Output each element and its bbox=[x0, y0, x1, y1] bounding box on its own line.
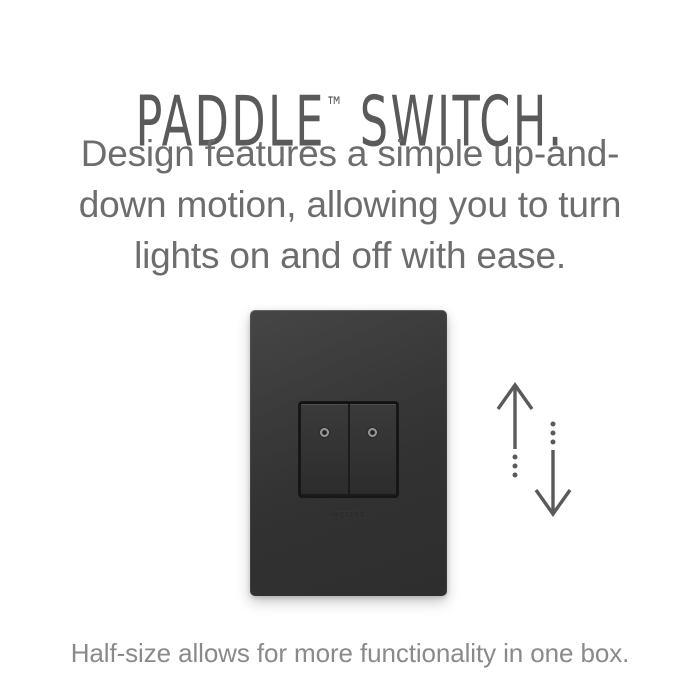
footer-caption: Half-size allows for more functionality … bbox=[0, 637, 700, 669]
product-feature-panel: PADDLE™ SWITCH. Design features a simple… bbox=[0, 0, 700, 700]
right-paddle-switch[interactable] bbox=[350, 404, 397, 495]
feature-description-line-2: down motion, allowing you to turn bbox=[50, 179, 650, 230]
updown-motion-graphic bbox=[485, 372, 585, 527]
down-arrow-icon bbox=[536, 450, 570, 514]
paddle-rocker-group[interactable] bbox=[299, 402, 398, 497]
left-paddle-switch[interactable] bbox=[301, 404, 348, 495]
led-indicator-icon bbox=[368, 428, 377, 437]
wall-plate-body: legrand bbox=[250, 310, 447, 596]
led-indicator-icon bbox=[320, 428, 329, 437]
feature-description: Design features a simple up-and- down mo… bbox=[50, 128, 650, 281]
brand-wordmark: legrand bbox=[331, 510, 366, 517]
up-arrow-icon bbox=[498, 385, 532, 449]
product-image-switch-plate: legrand bbox=[250, 310, 447, 596]
trademark-symbol: ™ bbox=[326, 91, 343, 122]
feature-description-line-3: lights on and off with ease. bbox=[50, 230, 650, 281]
feature-description-line-1: Design features a simple up-and- bbox=[50, 128, 650, 179]
up-arrow-dotted-tail bbox=[513, 455, 518, 478]
down-arrow-dotted-tail bbox=[551, 422, 556, 445]
